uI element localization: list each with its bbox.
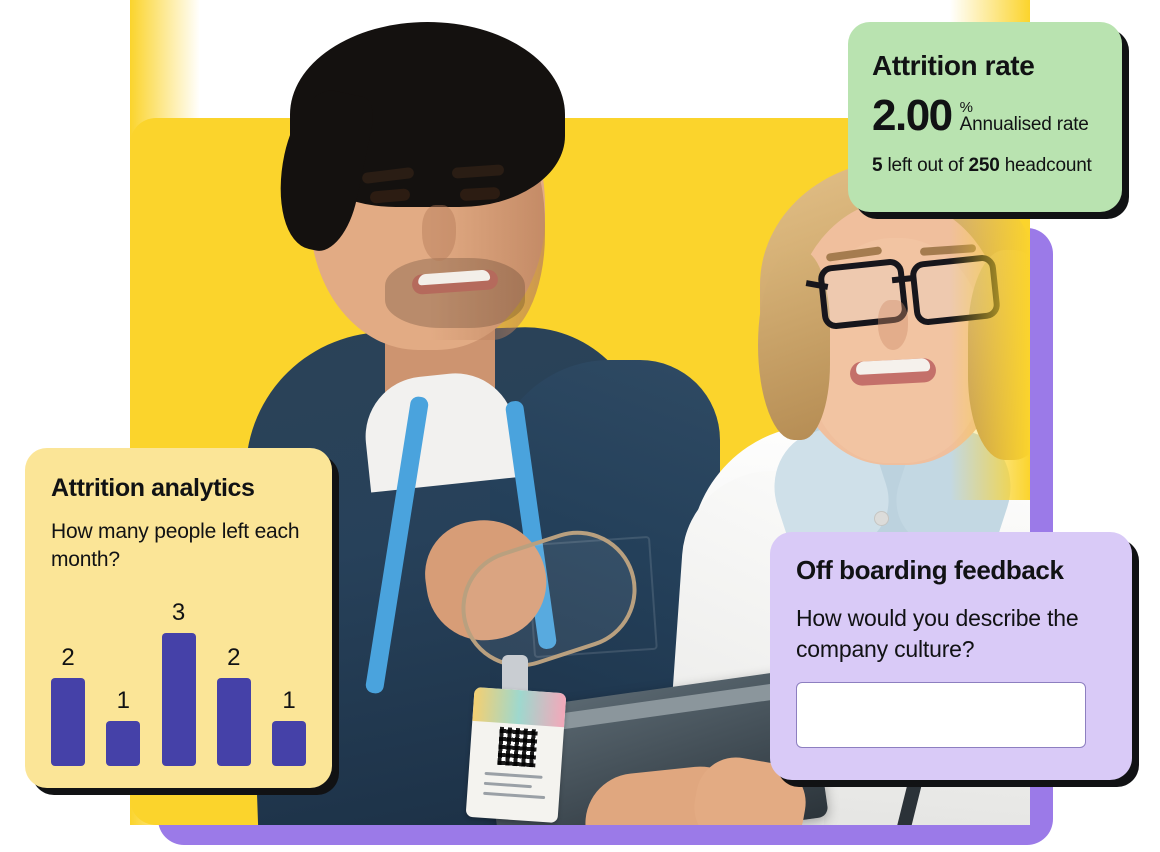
photo-man-eye-right <box>460 187 501 201</box>
monthly-leavers-bar-chart: 2 1 3 2 1 <box>51 591 306 766</box>
photo-man-nose <box>422 205 456 261</box>
offboarding-feedback-card: Off boarding feedback How would you desc… <box>770 532 1132 780</box>
attrition-analytics-card: Attrition analytics How many people left… <box>25 448 332 788</box>
photo-badge-text-line <box>485 772 543 779</box>
photo-id-badge <box>466 687 567 823</box>
bar-column: 2 <box>51 591 85 766</box>
attrition-rate-percent-symbol: % <box>960 100 1089 115</box>
attrition-rate-subtext-mid: left out of <box>882 155 968 176</box>
qr-code-icon <box>497 727 538 768</box>
bar-column: 3 <box>162 591 196 766</box>
attrition-rate-unit-group: % Annualised rate <box>960 100 1089 137</box>
attrition-analytics-question: How many people left each month? <box>51 518 306 574</box>
bar[interactable] <box>217 678 251 766</box>
attrition-rate-card-title: Attrition rate <box>872 50 1098 81</box>
offboarding-feedback-card-title: Off boarding feedback <box>796 556 1106 585</box>
bar-value-label: 1 <box>117 689 130 713</box>
photo-man-beard <box>385 258 525 328</box>
attrition-rate-card: Attrition rate 2.00 % Annualised rate 5 … <box>848 22 1122 212</box>
bar-value-label: 2 <box>61 646 74 670</box>
bar-value-label: 1 <box>282 689 295 713</box>
attrition-rate-metric: 2.00 % Annualised rate <box>872 95 1098 137</box>
attrition-rate-headcount-value: 250 <box>969 155 1000 176</box>
bar[interactable] <box>272 721 306 766</box>
offboarding-feedback-question: How would you describe the company cultu… <box>796 603 1106 664</box>
bar-column: 1 <box>106 591 140 766</box>
photo-badge-color-band <box>472 687 566 727</box>
attrition-analytics-card-title: Attrition analytics <box>51 474 306 502</box>
attrition-rate-subtext-tail: headcount <box>1000 155 1092 176</box>
photo-woman-coat-button <box>875 512 888 525</box>
bar-column: 1 <box>272 591 306 766</box>
photo-woman-nose <box>878 300 908 350</box>
attrition-rate-unit-label: Annualised rate <box>960 115 1089 135</box>
bar[interactable] <box>51 678 85 766</box>
bar-column: 2 <box>217 591 251 766</box>
photo-badge-text-line <box>483 792 545 799</box>
photo-badge-text-line <box>484 782 532 788</box>
offboarding-feedback-input[interactable] <box>796 682 1086 748</box>
bar-value-label: 2 <box>227 646 240 670</box>
bar[interactable] <box>106 721 140 766</box>
bar-value-label: 3 <box>172 601 185 625</box>
bar[interactable] <box>162 633 196 766</box>
attrition-rate-subtext: 5 left out of 250 headcount <box>872 155 1098 177</box>
attrition-rate-leavers-count: 5 <box>872 155 882 176</box>
attrition-rate-value: 2.00 <box>872 95 952 137</box>
